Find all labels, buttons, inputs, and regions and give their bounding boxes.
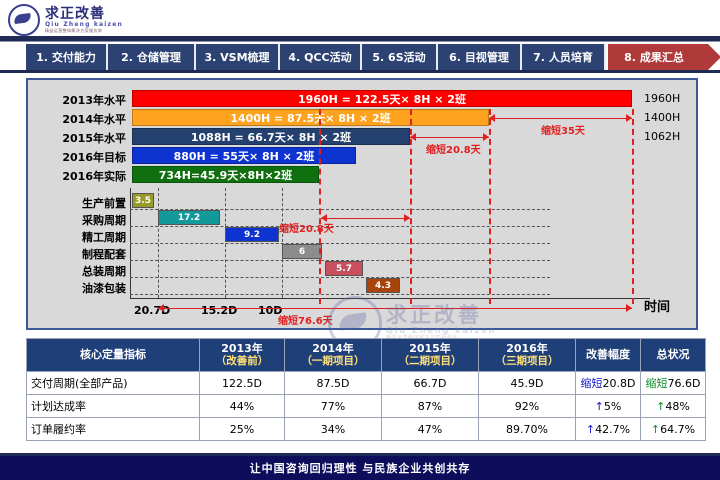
- x-tick-divider-2: [225, 188, 226, 298]
- table-header-sub: （改善前）: [200, 355, 284, 368]
- brand-tagline: 精益运营整体解决方案服务商: [45, 29, 123, 33]
- annotation-label-4: 缩短76.6天: [278, 312, 333, 327]
- table-cell-metric: 交付周期(全部产品): [27, 372, 200, 395]
- annotation-arrow-2-head-left: [410, 133, 416, 141]
- waterfall-row-label-6: 油漆包装: [28, 280, 126, 296]
- brand-logo-icon: [8, 4, 40, 36]
- tab-label: 3. VSM梳理: [204, 49, 269, 65]
- tab-5[interactable]: 5. 6S活动: [362, 44, 438, 70]
- waterfall-bar-6: 4.3: [366, 278, 400, 293]
- bar-right-label-3: 1062H: [644, 130, 680, 143]
- chart-row-label-1: 2013年水平: [28, 92, 126, 108]
- annotation-arrow-3-head-right: [404, 214, 410, 222]
- total-prefix: ↑: [656, 400, 665, 413]
- table-header-5: 2016年（三期项目）: [479, 339, 576, 372]
- table-header-main: 2015年: [382, 342, 478, 356]
- table-cell-metric: 计划达成率: [27, 395, 200, 418]
- table-cell-y2014: 34%: [285, 418, 382, 441]
- table-cell-y2016: 45.9D: [479, 372, 576, 395]
- annotation-arrow-2-line: [410, 137, 489, 138]
- table-cell-metric: 订单履约率: [27, 418, 200, 441]
- bar-value-label: 1400H = 87.5天× 8H × 2班: [230, 110, 390, 126]
- annotation-arrow-4-line: [158, 308, 632, 309]
- tab-label: 6. 目视管理: [449, 49, 509, 65]
- table-header-main: 总状况: [641, 348, 705, 362]
- table-header-main: 2016年: [479, 342, 575, 356]
- improvement-value: 42.7%: [595, 423, 630, 436]
- waterfall-bar-1: 3.5: [132, 193, 154, 208]
- improvement-value: 5%: [604, 400, 621, 413]
- header-divider-thin: [0, 41, 720, 42]
- annotation-arrow-3-line: [321, 218, 410, 219]
- tab-label: 5. 6S活动: [372, 49, 425, 65]
- table-header-3: 2014年（一期项目）: [285, 339, 382, 372]
- tab-6[interactable]: 6. 目视管理: [438, 44, 522, 70]
- table-header-sub: （一期项目）: [285, 355, 381, 368]
- tab-3[interactable]: 3. VSM梳理: [196, 44, 280, 70]
- chart-plot-area: 2013年水平1960H = 122.5天× 8H × 2班1960H2014年…: [28, 80, 696, 328]
- chart-row-label-3: 2015年水平: [28, 130, 126, 146]
- tabs-underline: [0, 70, 720, 73]
- table-header-main: 2013年: [200, 342, 284, 356]
- waterfall-bar-2: 17.2: [158, 210, 220, 225]
- bar-4: 880H = 55天× 8H × 2班: [132, 147, 356, 164]
- table-header-main: 2014年: [285, 342, 381, 356]
- table-row: 计划达成率44%77%87%92%↑5%↑48%: [27, 395, 706, 418]
- table-cell-y2015: 47%: [382, 418, 479, 441]
- table-cell-y2015: 66.7D: [382, 372, 479, 395]
- annotation-arrow-2-head-right: [483, 133, 489, 141]
- annotation-label-1: 缩短35天: [541, 122, 585, 137]
- tab-2[interactable]: 2. 仓储管理: [108, 44, 196, 70]
- x-tick-divider-1: [158, 188, 159, 298]
- waterfall-bar-value: 17.2: [178, 213, 200, 223]
- red-reference-line-4: [632, 109, 634, 304]
- table-cell-total: 缩短76.6D: [641, 372, 706, 395]
- tab-1[interactable]: 1. 交付能力: [26, 44, 108, 70]
- waterfall-bar-4: 6: [282, 244, 322, 259]
- waterfall-bar-value: 6: [299, 247, 305, 257]
- bar-value-label: 734H=45.9天×8H×2班: [159, 167, 292, 183]
- table-cell-y2015: 87%: [382, 395, 479, 418]
- brand-name-cn: 求正改善: [45, 7, 123, 21]
- slide-root: 求正改善 Qiu Zheng kaizen 精益运营整体解决方案服务商 1. 交…: [0, 0, 720, 480]
- red-reference-line-1: [319, 109, 321, 304]
- chart-x-axis: [130, 298, 650, 299]
- table-cell-total: ↑48%: [641, 395, 706, 418]
- bar-value-label: 1960H = 122.5天× 8H × 2班: [298, 91, 466, 107]
- table-header-7: 总状况: [641, 339, 706, 372]
- improvement-prefix: ↑: [586, 423, 595, 436]
- waterfall-row-label-2: 采购周期: [28, 212, 126, 228]
- waterfall-row-label-4: 制程配套: [28, 246, 126, 262]
- waterfall-bar-value: 5.7: [336, 264, 352, 274]
- table-header-1: 核心定量指标: [27, 339, 200, 372]
- kpi-table: 核心定量指标2013年（改善前）2014年（一期项目）2015年（二期项目）20…: [26, 338, 706, 441]
- chart-row-label-2: 2014年水平: [28, 111, 126, 127]
- waterfall-gridline-2: [130, 226, 550, 227]
- improvement-prefix: 缩短: [581, 377, 603, 390]
- total-value: 64.7%: [660, 423, 695, 436]
- waterfall-bar-value: 9.2: [244, 230, 260, 240]
- waterfall-gridline-3: [130, 243, 550, 244]
- table-header-main: 改善幅度: [576, 348, 640, 362]
- table-cell-y2016: 92%: [479, 395, 576, 418]
- bar-value-label: 1088H = 66.7天× 8H × 2班: [191, 129, 351, 145]
- red-reference-line-3: [489, 109, 491, 304]
- table-cell-improvement: ↑5%: [576, 395, 641, 418]
- tab-label: 2. 仓储管理: [121, 49, 181, 65]
- waterfall-row-label-3: 精工周期: [28, 229, 126, 245]
- table-cell-y2013: 44%: [200, 395, 285, 418]
- chart-row-label-4: 2016年目标: [28, 149, 126, 165]
- waterfall-bar-5: 5.7: [325, 261, 363, 276]
- table-cell-y2013: 25%: [200, 418, 285, 441]
- waterfall-gridline-6: [130, 294, 550, 295]
- tab-label: 7. 人员培育: [533, 49, 593, 65]
- annotation-arrow-1-head-right: [626, 114, 632, 122]
- table-cell-y2014: 87.5D: [285, 372, 382, 395]
- tab-7[interactable]: 7. 人员培育: [522, 44, 606, 70]
- kpi-table-header-row: 核心定量指标2013年（改善前）2014年（一期项目）2015年（二期项目）20…: [27, 339, 706, 372]
- improvement-value: 20.8D: [603, 377, 636, 390]
- x-tick-divider-3: [282, 188, 283, 298]
- chart-row-label-5: 2016年实际: [28, 168, 126, 184]
- bar-right-label-2: 1400H: [644, 111, 680, 124]
- annotation-arrow-4-head-right: [626, 304, 632, 312]
- kpi-table-head: 核心定量指标2013年（改善前）2014年（一期项目）2015年（二期项目）20…: [27, 339, 706, 372]
- annotation-label-3: 缩短20.8天: [279, 220, 334, 235]
- annotation-label-2: 缩短20.8天: [426, 141, 481, 156]
- footer-bar: 让中国咨询回归理性 与民族企业共创共存: [0, 456, 720, 480]
- x-tick-label-1: 20.7D: [134, 304, 170, 317]
- bar-5: 734H=45.9天×8H×2班: [132, 166, 319, 183]
- table-cell-improvement: 缩短20.8D: [576, 372, 641, 395]
- kpi-table-body: 交付周期(全部产品)122.5D87.5D66.7D45.9D缩短20.8D缩短…: [27, 372, 706, 441]
- x-tick-label-2: 15.2D: [201, 304, 237, 317]
- bar-3: 1088H = 66.7天× 8H × 2班: [132, 128, 410, 145]
- tab-8[interactable]: 8. 成果汇总: [608, 44, 708, 70]
- table-header-sub: （二期项目）: [382, 355, 478, 368]
- bar-value-label: 880H = 55天× 8H × 2班: [174, 148, 315, 164]
- total-value: 76.6D: [668, 377, 701, 390]
- tab-label: 1. 交付能力: [36, 49, 96, 65]
- table-cell-total: ↑64.7%: [641, 418, 706, 441]
- bar-right-label-1: 1960H: [644, 92, 680, 105]
- table-cell-improvement: ↑42.7%: [576, 418, 641, 441]
- waterfall-bar-value: 3.5: [135, 196, 151, 206]
- waterfall-row-label-1: 生产前置: [28, 195, 126, 211]
- bar-1: 1960H = 122.5天× 8H × 2班: [132, 90, 632, 107]
- tab-label: 4. QCC活动: [288, 49, 351, 65]
- table-row: 订单履约率25%34%47%89.70%↑42.7%↑64.7%: [27, 418, 706, 441]
- table-row: 交付周期(全部产品)122.5D87.5D66.7D45.9D缩短20.8D缩短…: [27, 372, 706, 395]
- annotation-arrow-1-head-left: [489, 114, 495, 122]
- waterfall-row-label-5: 总装周期: [28, 263, 126, 279]
- table-cell-y2013: 122.5D: [200, 372, 285, 395]
- section-tabs[interactable]: 1. 交付能力2. 仓储管理3. VSM梳理4. QCC活动5. 6S活动6. …: [26, 44, 708, 70]
- brand-logo-text: 求正改善 Qiu Zheng kaizen 精益运营整体解决方案服务商: [45, 7, 123, 33]
- brand-logo: 求正改善 Qiu Zheng kaizen 精益运营整体解决方案服务商: [8, 4, 188, 36]
- table-cell-y2016: 89.70%: [479, 418, 576, 441]
- tab-4[interactable]: 4. QCC活动: [280, 44, 362, 70]
- improvement-prefix: ↑: [595, 400, 604, 413]
- watermark-name-en: Qiu Zheng kaizen: [386, 327, 496, 336]
- tab-label: 8. 成果汇总: [624, 49, 684, 65]
- chart-panel: 2013年水平1960H = 122.5天× 8H × 2班1960H2014年…: [26, 78, 698, 330]
- table-header-main: 核心定量指标: [27, 348, 199, 362]
- waterfall-bar-3: 9.2: [225, 227, 279, 242]
- table-header-4: 2015年（二期项目）: [382, 339, 479, 372]
- waterfall-gridline-5: [130, 277, 550, 278]
- annotation-arrow-4-head-left: [158, 304, 164, 312]
- total-prefix: ↑: [651, 423, 660, 436]
- total-prefix: 缩短: [646, 377, 668, 390]
- bar-2: 1400H = 87.5天× 8H × 2班: [132, 109, 489, 126]
- annotation-arrow-1-line: [489, 118, 632, 119]
- total-value: 48%: [665, 400, 689, 413]
- x-axis-title: 时间: [644, 296, 670, 315]
- table-header-6: 改善幅度: [576, 339, 641, 372]
- table-cell-y2014: 77%: [285, 395, 382, 418]
- table-header-sub: （三期项目）: [479, 355, 575, 368]
- table-header-2: 2013年（改善前）: [200, 339, 285, 372]
- waterfall-bar-value: 4.3: [375, 281, 391, 291]
